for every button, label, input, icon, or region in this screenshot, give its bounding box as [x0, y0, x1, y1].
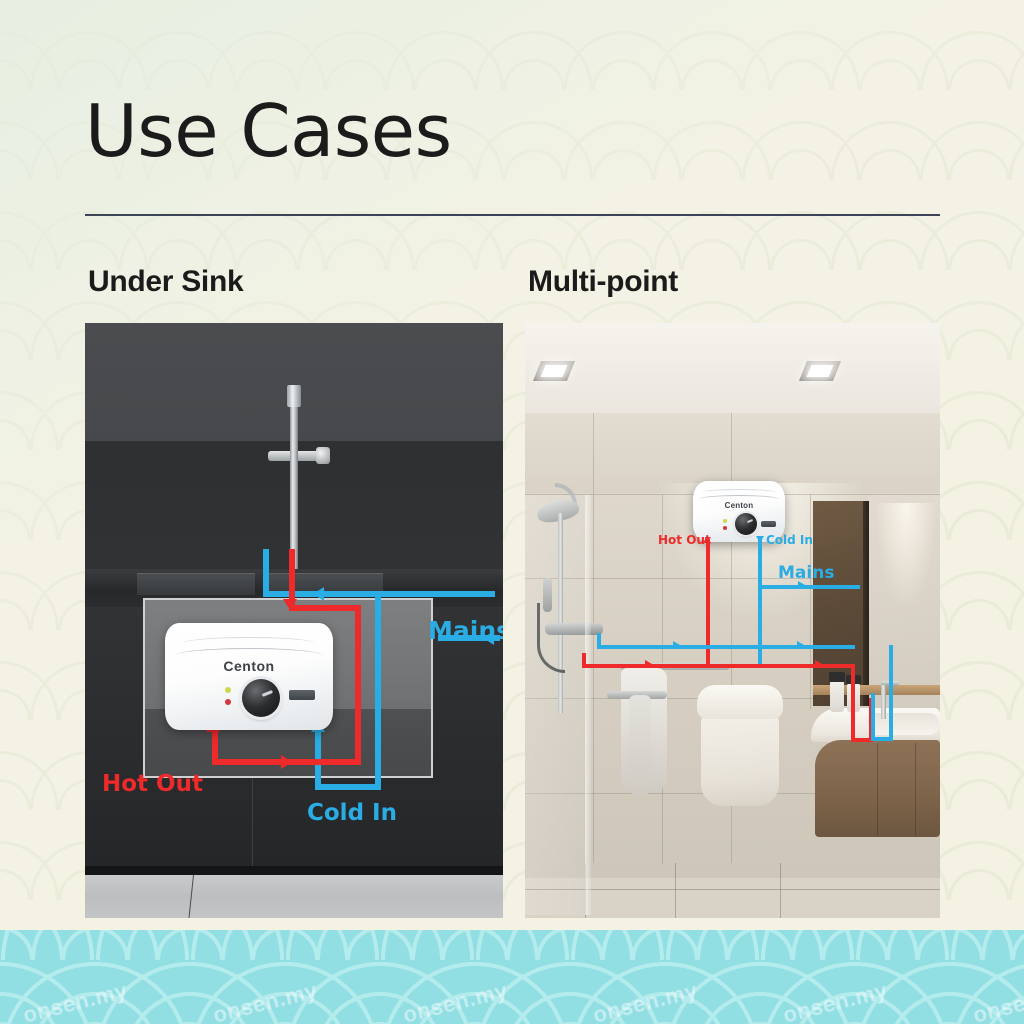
- watermark-text: onsen.my: [780, 977, 890, 1024]
- arrow-hot-down: [283, 599, 297, 610]
- tile-grout-v1: [593, 413, 594, 863]
- wall-hung-toilet-body: [701, 709, 779, 806]
- under-sink-image-panel: Centon Mains Hot Out Cold In: [85, 323, 503, 918]
- heater-rating-badge: [761, 521, 776, 527]
- slide-root: onsen.myonsen.myonsen.myonsen.myonsen.my…: [0, 0, 1024, 1024]
- arrow-cold-run-mp: [673, 641, 680, 649]
- heater-brand-logo: Centon: [165, 658, 333, 674]
- pipe-mains-tee-mp: [758, 585, 772, 589]
- label-mains-multi-point: Mains: [778, 563, 834, 583]
- arrow-cold-in-mp: [756, 536, 764, 543]
- label-cold-in-multi-point: Cold In: [766, 533, 813, 547]
- tile-grout-v4: [810, 494, 811, 709]
- label-hot-out-multi-point: Hot Out: [658, 533, 711, 547]
- pipe-cold-into-unit: [315, 723, 321, 789]
- arrow-hot-right: [281, 755, 292, 769]
- page-title: Use Cases: [85, 95, 452, 167]
- arrow-hot-run2-mp: [815, 660, 822, 668]
- pipe-cold-to-basin-mp: [889, 645, 893, 741]
- floor-plank-seam-2: [675, 863, 676, 918]
- watermark-text: onsen.my: [970, 977, 1024, 1024]
- soap-dispenser-cap-1: [829, 672, 845, 682]
- right-wall-glow: [877, 503, 935, 603]
- faucet-knob: [316, 447, 330, 464]
- wash-basin: [867, 713, 939, 735]
- pipe-hot-top-run: [289, 605, 361, 611]
- label-cold-in-under-sink: Cold In: [307, 800, 397, 826]
- vanity-door-seam-1: [877, 743, 878, 835]
- multi-point-image-panel: Centon Hot Out Cold In Main: [525, 323, 940, 918]
- kitchen-floor: [85, 875, 503, 918]
- arrow-cold-run2-mp: [797, 641, 804, 649]
- section-heading-under-sink: Under Sink: [88, 265, 243, 299]
- toilet-seat-lid: [697, 685, 783, 719]
- faucet-spout: [287, 385, 301, 407]
- watermark-text: onsen.my: [400, 977, 510, 1024]
- pipe-cold-basin-riser-mp: [871, 693, 875, 739]
- pipe-hot-to-shower-mp: [582, 653, 586, 667]
- heater-rating-badge: [289, 690, 315, 700]
- watermark-text: onsen.my: [590, 977, 700, 1024]
- label-mains-under-sink: Mains: [428, 616, 503, 645]
- floor-plank-seam-3: [780, 863, 781, 918]
- heater-temperature-knob[interactable]: [735, 513, 757, 535]
- title-divider: [85, 214, 940, 216]
- pipe-mains-horizontal-top: [375, 591, 495, 597]
- pipe-cold-main-run-mp: [597, 645, 855, 649]
- pipe-cold-bottom-run: [315, 784, 381, 790]
- section-heading-multi-point: Multi-point: [528, 265, 678, 299]
- bathroom-ceiling: [525, 323, 940, 419]
- shower-glass-screen: [525, 495, 588, 915]
- soap-dispenser-1: [830, 680, 844, 712]
- pipe-hot-vertical: [355, 605, 361, 765]
- watermark-text: onsen.my: [210, 977, 320, 1024]
- heater-brand-logo: Centon: [693, 501, 785, 510]
- arrow-cold-left: [313, 587, 324, 601]
- label-hot-out-under-sink: Hot Out: [102, 771, 203, 797]
- arrow-hot-run-mp: [645, 660, 652, 668]
- pipe-mains-run-mp: [770, 585, 860, 589]
- watermark-text: onsen.my: [20, 977, 130, 1024]
- pipe-cold-to-shower-mp: [597, 633, 601, 649]
- pipe-cold-riser: [263, 549, 269, 595]
- pipe-cold-vertical-right: [375, 591, 381, 761]
- vanity-door-seam-2: [915, 743, 916, 835]
- pipe-hot-to-basin-mp: [851, 664, 855, 742]
- heater-temperature-knob[interactable]: [242, 679, 280, 717]
- basin-tap[interactable]: [881, 685, 886, 719]
- hanging-towel-secondary: [629, 695, 651, 797]
- shower-glass-edge: [585, 495, 591, 915]
- mirror-cabinet-edge: [863, 501, 869, 706]
- water-heater-unit-under-sink: Centon: [165, 623, 333, 730]
- sink-basin-left: [137, 573, 255, 595]
